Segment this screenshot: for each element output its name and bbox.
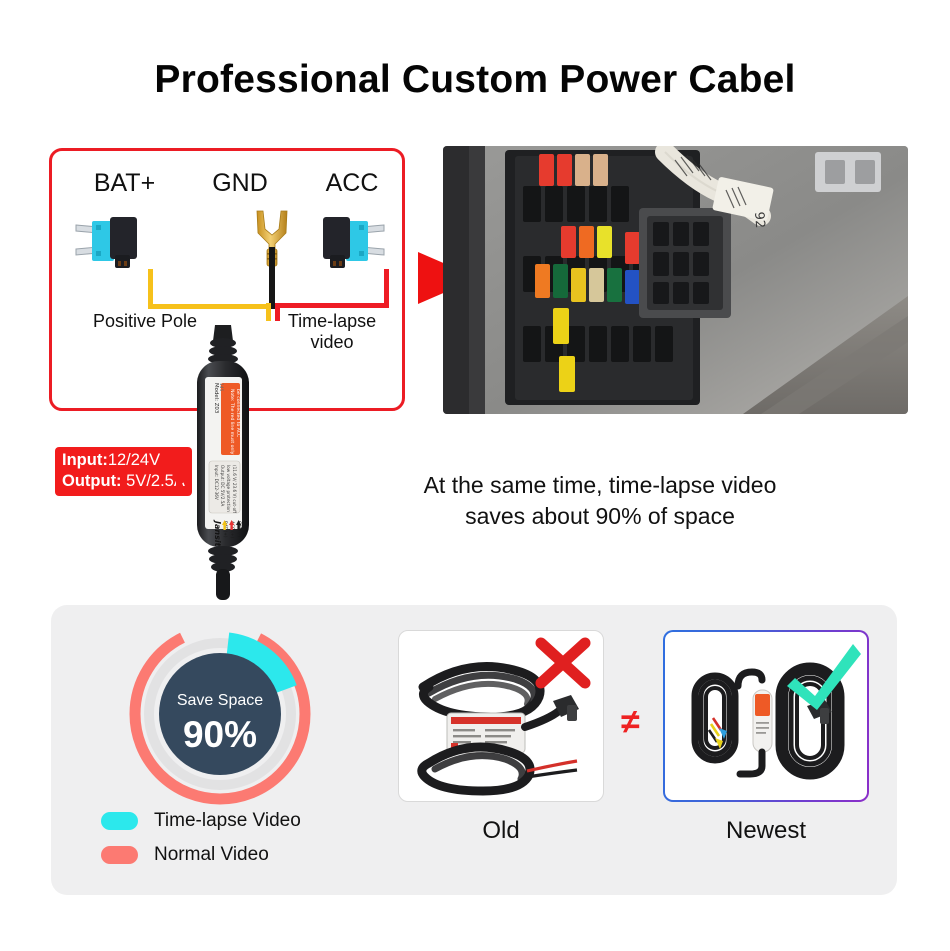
spec-input-label: Input:: [62, 451, 108, 469]
caption-line-1: At the same time, time-lapse video: [370, 470, 830, 501]
fuse-tap-bat-icon: [74, 211, 146, 273]
legend-item-timelapse: Time-lapse Video: [101, 810, 301, 832]
svg-text:Note: The red line must only: Note: The red line must only: [229, 389, 235, 455]
svg-text:Input: DC12-36V: Input: DC12-36V: [214, 465, 219, 500]
bottom-panel: Save Space 90% Time-lapse Video Normal V…: [51, 605, 897, 895]
spec-input-value: 12/24V: [108, 451, 160, 469]
legend-label-normal: Normal Video: [154, 844, 269, 866]
chart-legend: Time-lapse Video Normal Video: [101, 810, 301, 878]
comparison-card-old: [398, 630, 604, 802]
not-equal-icon: ≠: [621, 703, 640, 742]
legend-swatch-timelapse: [101, 812, 138, 830]
spec-badge: Input:12/24V Output: 5V/2.5A: [55, 447, 192, 496]
svg-text:low voltage protection: low voltage protection: [226, 465, 231, 512]
wire-bat-vertical: [148, 269, 153, 307]
svg-text:145: 145: [218, 383, 224, 392]
page-title: Professional Custom Power Cabel: [0, 58, 950, 102]
infographic-page: Professional Custom Power Cabel BAT+ GND…: [0, 0, 950, 951]
wire-acc-vertical: [384, 269, 389, 307]
spec-output-row: Output: 5V/2.5A: [62, 471, 185, 492]
label-time-lapse-video: Time-lapse video: [267, 311, 397, 353]
spec-output-label: Output:: [62, 472, 122, 490]
terminal-label-bat: BAT+: [62, 169, 187, 198]
legend-label-timelapse: Time-lapse Video: [154, 810, 301, 832]
caption-line-2: saves about 90% of space: [370, 501, 830, 532]
svg-text:Output: DC 5V/2.5A: Output: DC 5V/2.5A: [220, 465, 225, 506]
terminal-label-gnd: GND: [185, 169, 295, 198]
svg-text:92: 92: [751, 211, 767, 229]
spec-input-row: Input:12/24V: [62, 450, 185, 471]
label-old: Old: [398, 817, 604, 845]
svg-text:(11.6 V/ 23.6 V) cut-off: (11.6 V/ 23.6 V) cut-off: [232, 465, 237, 513]
wire-gnd-vertical: [269, 247, 275, 309]
spec-badge-pointer: [176, 470, 188, 488]
legend-swatch-normal: [101, 846, 138, 864]
fusebox-photo: 92: [443, 146, 908, 414]
legend-item-normal: Normal Video: [101, 844, 301, 866]
wire-bat-horizontal: [148, 304, 273, 309]
svg-text:be connected to ACC: be connected to ACC: [235, 389, 241, 437]
label-newest: Newest: [663, 817, 869, 845]
comparison-card-newest: [663, 630, 869, 802]
wire-acc-horizontal: [272, 303, 389, 308]
save-space-donut-chart: Save Space 90%: [113, 617, 328, 812]
benefit-caption: At the same time, time-lapse video saves…: [370, 470, 830, 532]
fuse-tap-acc-icon: [314, 211, 386, 273]
donut-value-text: 90%: [183, 714, 257, 755]
donut-title-text: Save Space: [177, 692, 263, 709]
terminal-label-acc: ACC: [302, 169, 402, 198]
cross-icon: [541, 643, 585, 683]
